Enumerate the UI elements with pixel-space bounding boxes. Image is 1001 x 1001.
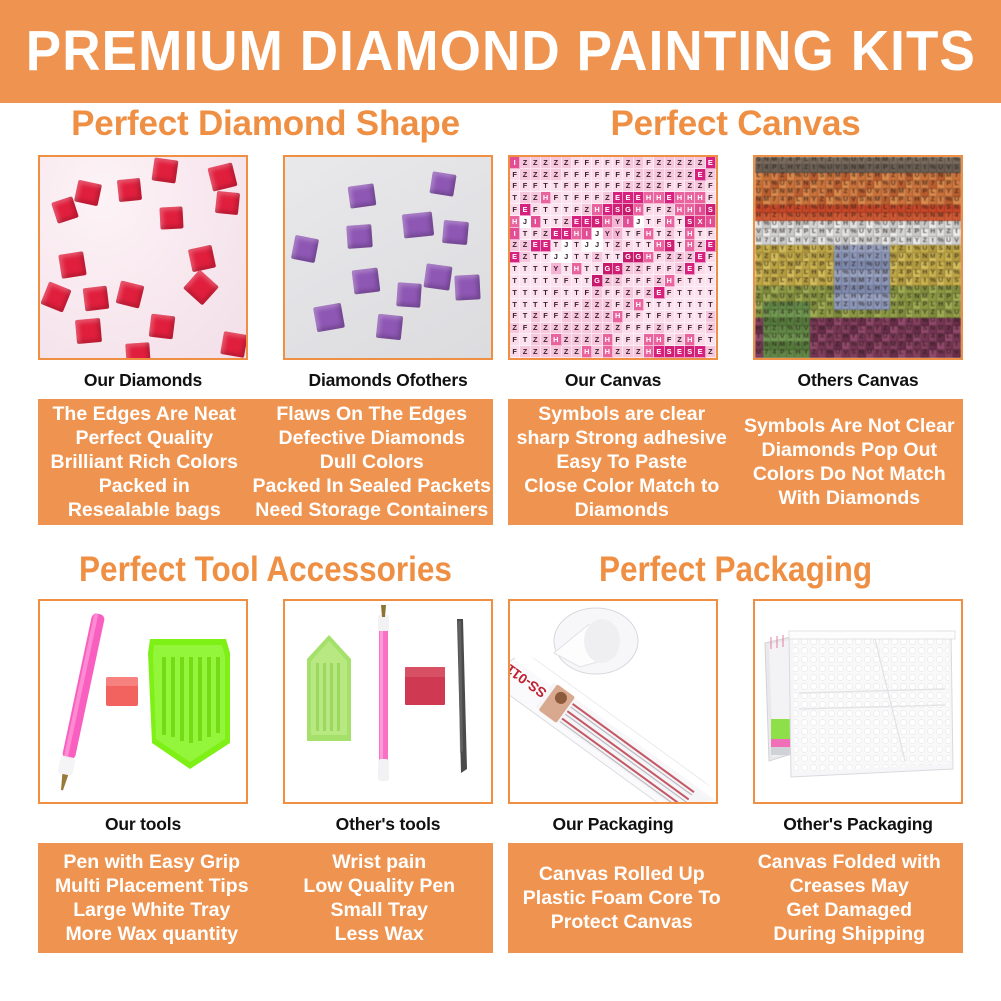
canvas-cell: T: [592, 263, 602, 275]
canvas-cell: H: [644, 192, 654, 204]
pink-symbol-canvas-art: IZZZZZFFFFFZZFZZZZZEFZZZZFFFFFFFZZZZZZEZ…: [510, 157, 716, 358]
bar-line: Resealable bags: [40, 498, 249, 522]
canvas-cell: L: [787, 350, 795, 358]
canvas-cell: Z: [541, 157, 551, 169]
canvas-cell: F: [520, 181, 530, 193]
canvas-cell: F: [644, 263, 654, 275]
canvas-cell: Y: [551, 263, 561, 275]
canvas-cell: Z: [541, 228, 551, 240]
canvas-cell: T: [541, 252, 551, 264]
canvas-cell: Z: [582, 323, 592, 335]
canvas-cell: Z: [562, 334, 572, 346]
canvas-cell: Z: [644, 169, 654, 181]
canvas-cell: I: [695, 204, 705, 216]
canvas-cell: Z: [695, 240, 705, 252]
canvas-cell: F: [551, 299, 561, 311]
canvas-cell: T: [685, 275, 695, 287]
canvas-cell: H: [572, 263, 582, 275]
canvas-cell: S: [685, 346, 695, 358]
canvas-cell: T: [603, 240, 613, 252]
canvas-cell: F: [623, 334, 633, 346]
canvas-cell: F: [706, 181, 716, 193]
canvas-cell: F: [510, 204, 520, 216]
canvas-cell: E: [603, 204, 613, 216]
canvas-cell: J: [634, 216, 644, 228]
textbar-canvas: Symbols are clear sharp Strong adhesive …: [508, 399, 963, 525]
bar-line: With Diamonds: [738, 486, 962, 510]
canvas-cell: H: [654, 240, 664, 252]
canvas-cell: G: [592, 275, 602, 287]
textbar-diamond-shape: The Edges Are Neat Perfect Quality Brill…: [38, 399, 493, 525]
canvas-cell: T: [531, 263, 541, 275]
canvas-cell: Z: [592, 299, 602, 311]
canvas-cell: T: [582, 263, 592, 275]
canvas-cell: Z: [685, 252, 695, 264]
canvas-cell: F: [582, 287, 592, 299]
canvas-cell: Z: [654, 181, 664, 193]
canvas-cell: Z: [644, 181, 654, 193]
canvas-cell: F: [562, 169, 572, 181]
canvas-cell: Z: [582, 311, 592, 323]
photo-other-packaging: [753, 599, 963, 804]
canvas-cell: Z: [520, 157, 530, 169]
canvas-cell: I: [582, 228, 592, 240]
canvas-cell: H: [654, 192, 664, 204]
canvas-cell: J: [551, 252, 561, 264]
canvas-cell: V: [842, 350, 850, 358]
canvas-cell: F: [623, 311, 633, 323]
canvas-cell: t: [929, 350, 937, 358]
canvas-cell: S: [592, 216, 602, 228]
canvas-cell: Z: [685, 181, 695, 193]
canvas-cell: Z: [695, 181, 705, 193]
photo-our-diamonds: [38, 155, 248, 360]
canvas-cell: T: [675, 240, 685, 252]
section-title-diamond-shape: Perfect Diamond Shape: [38, 106, 493, 141]
canvas-cell: I: [623, 216, 633, 228]
canvas-cell: F: [510, 346, 520, 358]
photo-our-packaging: SS-011: [508, 599, 718, 804]
canvas-cell: H: [685, 192, 695, 204]
bar-line: During Shipping: [738, 922, 962, 946]
canvas-cell: T: [562, 287, 572, 299]
canvas-cell: E: [675, 346, 685, 358]
canvas-cell: F: [551, 311, 561, 323]
canvas-cell: T: [520, 263, 530, 275]
canvas-cell: T: [562, 204, 572, 216]
our-tools-svg: [40, 601, 246, 802]
canvas-cell: T: [582, 275, 592, 287]
canvas-cell: E: [695, 346, 705, 358]
canvas-cell: F: [603, 157, 613, 169]
muddy-symbol-canvas-art: SNM74PLHYZt%UVSNM74PLHYZt%74PLHYZt%UVSNM…: [755, 157, 961, 358]
canvas-cell: Z: [531, 157, 541, 169]
textbar-ours-diamond-shape: The Edges Are Neat Perfect Quality Brill…: [38, 399, 251, 525]
canvas-cell: H: [644, 228, 654, 240]
canvas-cell: Z: [562, 311, 572, 323]
canvas-cell: Z: [665, 228, 675, 240]
canvas-cell: T: [685, 311, 695, 323]
canvas-cell: E: [654, 287, 664, 299]
canvas-cell: H: [603, 346, 613, 358]
canvas-cell: H: [644, 252, 654, 264]
caption-others-canvas: Others Canvas: [753, 370, 963, 391]
canvas-cell: F: [572, 204, 582, 216]
bar-line: Creases May: [738, 874, 962, 898]
bar-line: Diamonds Pop Out: [738, 438, 962, 462]
canvas-cell: Z: [695, 157, 705, 169]
canvas-cell: Z: [510, 323, 520, 335]
canvas-cell: T: [675, 311, 685, 323]
canvas-cell: Z: [531, 346, 541, 358]
canvas-cell: H: [685, 228, 695, 240]
bar-line: Packed In Sealed Packets: [253, 474, 491, 498]
panel-others-diamonds: Diamonds Ofothers: [283, 155, 493, 391]
panel-others-canvas: SNM74PLHYZt%UVSNM74PLHYZt%74PLHYZt%UVSNM…: [753, 155, 963, 391]
canvas-cell: F: [665, 311, 675, 323]
canvas-cell: %: [937, 350, 945, 358]
bar-line: Colors Do Not Match: [738, 462, 962, 486]
panel-our-canvas: IZZZZZFFFFFZZFZZZZZEFZZZZFFFFFFFZZZZZZEZ…: [508, 155, 718, 391]
canvas-cell: Z: [582, 204, 592, 216]
canvas-cell: Z: [603, 323, 613, 335]
canvas-cell: Z: [582, 299, 592, 311]
canvas-cell: Z: [541, 323, 551, 335]
canvas-cell: E: [562, 228, 572, 240]
bar-line: Low Quality Pen: [268, 874, 492, 898]
canvas-cell: E: [623, 192, 633, 204]
canvas-cell: G: [603, 263, 613, 275]
canvas-cell: F: [644, 204, 654, 216]
canvas-cell: T: [654, 299, 664, 311]
canvas-cell: F: [562, 275, 572, 287]
canvas-cell: F: [634, 323, 644, 335]
canvas-cell: Z: [592, 287, 602, 299]
canvas-cell: T: [510, 275, 520, 287]
canvas-cell: Y: [803, 350, 811, 358]
canvas-cell: Z: [665, 157, 675, 169]
canvas-cell: Z: [572, 334, 582, 346]
canvas-cell: T: [623, 228, 633, 240]
photo-our-tools: [38, 599, 248, 804]
canvas-cell: F: [572, 169, 582, 181]
section-diamond-shape: Perfect Diamond Shape: [38, 106, 493, 525]
canvas-cell: F: [623, 240, 633, 252]
canvas-cell: E: [665, 192, 675, 204]
canvas-cell: T: [562, 263, 572, 275]
tube-svg: SS-011: [510, 601, 716, 802]
canvas-cell: T: [572, 275, 582, 287]
canvas-cell: H: [795, 350, 803, 358]
caption-our-canvas: Our Canvas: [508, 370, 718, 391]
canvas-cell: F: [644, 275, 654, 287]
canvas-cell: T: [520, 228, 530, 240]
canvas-cell: F: [603, 287, 613, 299]
section-title-tools: Perfect Tool Accessories: [61, 552, 471, 587]
canvas-cell: Z: [921, 350, 929, 358]
canvas-cell: Z: [572, 346, 582, 358]
canvas-cell: F: [572, 192, 582, 204]
canvas-cell: F: [510, 311, 520, 323]
purple-drills-art: [285, 157, 491, 358]
canvas-cell: Z: [634, 346, 644, 358]
canvas-cell: Z: [562, 323, 572, 335]
canvas-cell: F: [592, 192, 602, 204]
canvas-cell: Z: [706, 311, 716, 323]
bar-line: Symbols are clear: [510, 402, 734, 426]
canvas-cell: T: [520, 287, 530, 299]
canvas-cell: T: [706, 275, 716, 287]
canvas-cell: T: [706, 287, 716, 299]
canvas-cell: T: [520, 334, 530, 346]
canvas-cell: H: [644, 346, 654, 358]
canvas-cell: Z: [675, 252, 685, 264]
canvas-cell: T: [562, 192, 572, 204]
bar-line: Large White Tray: [40, 898, 264, 922]
canvas-cell: Z: [520, 346, 530, 358]
panel-other-packaging: Other's Packaging: [753, 599, 963, 835]
canvas-cell: Z: [613, 323, 623, 335]
canvas-cell: Z: [623, 181, 633, 193]
canvas-cell: E: [582, 216, 592, 228]
canvas-cell: Z: [613, 275, 623, 287]
canvas-cell: S: [613, 204, 623, 216]
bar-line: Pen with Easy Grip: [40, 850, 264, 874]
canvas-cell: F: [634, 228, 644, 240]
canvas-cell: F: [510, 181, 520, 193]
canvas-cell: S: [850, 350, 858, 358]
canvas-cell: Z: [531, 311, 541, 323]
canvas-cell: Z: [665, 204, 675, 216]
canvas-cell: F: [654, 204, 664, 216]
textbar-others-packaging: Canvas Folded with Creases May Get Damag…: [736, 843, 964, 953]
canvas-cell: T: [644, 311, 654, 323]
canvas-cell: T: [531, 275, 541, 287]
caption-our-diamonds: Our Diamonds: [38, 370, 248, 391]
canvas-cell: Z: [603, 311, 613, 323]
caption-others-diamonds: Diamonds Ofothers: [283, 370, 493, 391]
canvas-cell: E: [695, 169, 705, 181]
caption-other-tools: Other's tools: [283, 814, 493, 835]
canvas-cell: F: [685, 323, 695, 335]
canvas-cell: G: [623, 252, 633, 264]
canvas-cell: T: [510, 299, 520, 311]
bar-line: Canvas Rolled Up: [510, 862, 734, 886]
canvas-cell: Z: [520, 252, 530, 264]
bar-line: Protect Canvas: [510, 910, 734, 934]
canvas-cell: T: [695, 311, 705, 323]
canvas-cell: T: [520, 275, 530, 287]
canvas-cell: Z: [541, 334, 551, 346]
canvas-cell: F: [634, 311, 644, 323]
canvas-cell: Z: [551, 157, 561, 169]
canvas-cell: Z: [541, 346, 551, 358]
canvas-cell: H: [644, 334, 654, 346]
canvas-cell: F: [623, 323, 633, 335]
canvas-cell: Z: [634, 157, 644, 169]
canvas-cell: T: [695, 299, 705, 311]
canvas-cell: T: [541, 299, 551, 311]
canvas-cell: T: [603, 252, 613, 264]
canvas-cell: Z: [706, 323, 716, 335]
canvas-cell: S: [665, 346, 675, 358]
textbar-packaging: Canvas Rolled Up Plastic Foam Core To Pr…: [508, 843, 963, 953]
canvas-cell: E: [613, 192, 623, 204]
canvas-cell: T: [613, 252, 623, 264]
canvas-cell: T: [541, 216, 551, 228]
canvas-cell: F: [623, 169, 633, 181]
bar-line: Canvas Folded with: [738, 850, 962, 874]
canvas-cell: H: [541, 192, 551, 204]
canvas-cell: Z: [520, 169, 530, 181]
canvas-cell: J: [592, 228, 602, 240]
textbar-ours-packaging: Canvas Rolled Up Plastic Foam Core To Pr…: [508, 843, 736, 953]
canvas-cell: F: [541, 311, 551, 323]
canvas-cell: Z: [685, 169, 695, 181]
caption-our-packaging: Our Packaging: [508, 814, 718, 835]
canvas-cell: F: [613, 157, 623, 169]
canvas-cell: J: [520, 216, 530, 228]
canvas-cell: Z: [654, 275, 664, 287]
canvas-cell: T: [541, 275, 551, 287]
canvas-cell: Z: [510, 240, 520, 252]
canvas-cell: E: [685, 263, 695, 275]
photo-others-canvas: SNM74PLHYZt%UVSNM74PLHYZt%74PLHYZt%UVSNM…: [753, 155, 963, 360]
other-packaging-art: [755, 601, 961, 802]
canvas-cell: J: [562, 240, 572, 252]
canvas-cell: H: [675, 204, 685, 216]
canvas-cell: T: [520, 299, 530, 311]
textbar-ours-tools: Pen with Easy Grip Multi Placement Tips …: [38, 843, 266, 953]
canvas-cell: T: [675, 228, 685, 240]
canvas-cell: T: [706, 334, 716, 346]
canvas-cell: Z: [634, 181, 644, 193]
canvas-cell: Z: [644, 287, 654, 299]
canvas-cell: F: [582, 157, 592, 169]
canvas-cell: H: [685, 334, 695, 346]
canvas-cell: T: [551, 240, 561, 252]
canvas-cell: T: [510, 192, 520, 204]
bar-line: Brilliant Rich Colors: [40, 450, 249, 474]
canvas-cell: E: [695, 252, 705, 264]
bar-line: Packed in: [40, 474, 249, 498]
canvas-cell: H: [695, 192, 705, 204]
canvas-cell: I: [706, 216, 716, 228]
bar-line: Dull Colors: [253, 450, 491, 474]
canvas-cell: Z: [572, 311, 582, 323]
canvas-cell: Z: [623, 263, 633, 275]
canvas-cell: T: [644, 216, 654, 228]
bar-line: Defective Diamonds: [253, 426, 491, 450]
textbar-others-tools: Wrist pain Low Quality Pen Small Tray Le…: [266, 843, 494, 953]
canvas-cell: H: [665, 216, 675, 228]
canvas-cell: F: [603, 169, 613, 181]
canvas-cell: Z: [603, 275, 613, 287]
canvas-cell: E: [551, 228, 561, 240]
our-tools-art: [40, 601, 246, 802]
photo-our-canvas: IZZZZZFFFFFZZFZZZZZEFZZZZFFFFFFFZZZZZZEZ…: [508, 155, 718, 360]
bar-line: More Wax quantity: [40, 922, 264, 946]
canvas-cell: F: [665, 181, 675, 193]
canvas-cell: Z: [613, 346, 623, 358]
canvas-cell: F: [551, 287, 561, 299]
canvas-cell: H: [665, 275, 675, 287]
canvas-cell: T: [695, 275, 705, 287]
canvas-cell: S: [613, 263, 623, 275]
canvas-cell: F: [582, 181, 592, 193]
canvas-cell: Z: [562, 216, 572, 228]
canvas-cell: T: [510, 263, 520, 275]
canvas-cell: Z: [572, 323, 582, 335]
canvas-cell: T: [675, 299, 685, 311]
canvas-cell: T: [582, 252, 592, 264]
canvas-cell: Z: [520, 192, 530, 204]
panel-our-diamonds: Our Diamonds: [38, 155, 248, 391]
canvas-cell: H: [613, 311, 623, 323]
canvas-cell: F: [510, 334, 520, 346]
canvas-cell: F: [654, 263, 664, 275]
canvas-cell: F: [562, 181, 572, 193]
canvas-cell: E: [572, 216, 582, 228]
canvas-cell: I: [510, 228, 520, 240]
canvas-cell: T: [675, 216, 685, 228]
canvas-cell: Z: [675, 263, 685, 275]
canvas-cell: Z: [592, 346, 602, 358]
canvas-cell: Y: [613, 216, 623, 228]
mailer-svg: [755, 601, 961, 802]
infographic-page: PREMIUM DIAMOND PAINTING KITS Perfect Di…: [0, 0, 1001, 1001]
canvas-cell: T: [541, 287, 551, 299]
canvas-cell: Z: [810, 350, 818, 358]
canvas-cell: Z: [675, 157, 685, 169]
canvas-cell: T: [695, 287, 705, 299]
canvas-cell: Z: [623, 346, 633, 358]
canvas-cell: Z: [675, 169, 685, 181]
canvas-cell: J: [592, 240, 602, 252]
canvas-cell: Z: [706, 169, 716, 181]
canvas-cell: S: [685, 216, 695, 228]
bar-line: Less Wax: [268, 922, 492, 946]
canvas-cell: Z: [551, 346, 561, 358]
canvas-cell: F: [572, 157, 582, 169]
canvas-cell: F: [613, 299, 623, 311]
canvas-cell: F: [644, 323, 654, 335]
bar-line: sharp Strong adhesive: [510, 426, 734, 450]
canvas-cell: T: [572, 287, 582, 299]
canvas-cell: T: [551, 216, 561, 228]
canvas-cell: F: [562, 299, 572, 311]
bar-line: Perfect Quality: [40, 426, 249, 450]
canvas-cell: Z: [654, 157, 664, 169]
canvas-cell: Z: [551, 169, 561, 181]
textbar-ours-canvas: Symbols are clear sharp Strong adhesive …: [508, 399, 736, 525]
canvas-cell: Y: [613, 228, 623, 240]
canvas-cell: T: [520, 311, 530, 323]
canvas-cell: H: [603, 216, 613, 228]
bar-line: Flaws On The Edges: [253, 402, 491, 426]
canvas-cell: F: [531, 228, 541, 240]
canvas-cell: P: [890, 350, 898, 358]
bar-line: Wrist pain: [268, 850, 492, 874]
caption-our-tools: Our tools: [38, 814, 248, 835]
canvas-cell: F: [695, 323, 705, 335]
canvas-cell: T: [551, 204, 561, 216]
canvas-cell: T: [644, 299, 654, 311]
canvas-cell: F: [644, 157, 654, 169]
canvas-cell: T: [541, 204, 551, 216]
canvas-cell: F: [665, 334, 675, 346]
section-title-packaging: Perfect Packaging: [531, 552, 941, 587]
